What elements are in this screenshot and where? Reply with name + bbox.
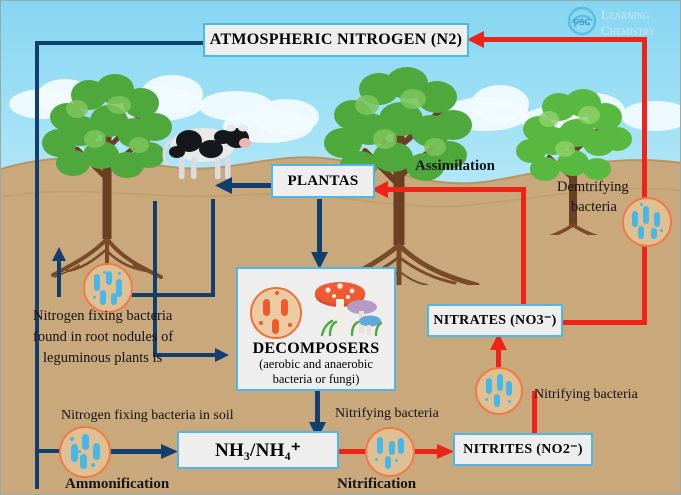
- blue-arrow-to-animals: [215, 177, 233, 194]
- bacteria-circle-icon: [365, 427, 415, 477]
- label-nitrifying-bacteria-right: Nitrifying bacteria: [534, 387, 638, 403]
- red-arrow-into-atmosphere: [467, 31, 485, 48]
- label-nitrifying-bacteria-bottom: Nitrifying bacteria: [335, 406, 439, 422]
- bacteria-circle-icon: [59, 426, 111, 478]
- box-plantas[interactable]: PLANTAS: [271, 164, 375, 198]
- label-ammonification: Ammonification: [65, 476, 169, 493]
- blue-line-nodule-up: [211, 199, 215, 297]
- label-denitrifying-bacteria-line2: bacteria: [571, 199, 617, 216]
- watermark-line2: Chemistry: [601, 23, 655, 39]
- blue-line-nodule-into-root: [57, 259, 61, 297]
- box-decomposers-label: DECOMPOSERS: [253, 341, 380, 358]
- blue-line-top-to-atmosphere: [35, 41, 213, 45]
- box-ammonia-label: NH₃/NH₄⁺: [215, 439, 301, 462]
- bacteria-circle-icon: [622, 197, 672, 247]
- box-nitrates-label: NITRATES (NO3⁻): [433, 312, 556, 329]
- label-assimilation: Assimilation: [415, 158, 495, 175]
- label-nitrification: Nitrification: [337, 476, 416, 493]
- box-nitrites[interactable]: NITRITES (NO2⁻): [453, 433, 593, 466]
- red-line-assimilation-across: [385, 187, 526, 192]
- red-line-nitrates-right: [563, 320, 647, 325]
- bacteria-circle-icon: [83, 263, 133, 313]
- nitrogen-cycle-diagram: ATMOSPHERIC NITROGEN (N2) PLANTAS: [0, 0, 681, 495]
- label-nitrogen-fixing-soil: Nitrogen fixing bacteria in soil: [61, 408, 234, 424]
- box-decomposers-sub1: (aerobic and anaerobic: [259, 357, 373, 372]
- bacteria-cell-icon: [248, 283, 304, 341]
- red-line-denitrify-up: [642, 37, 647, 325]
- box-plantas-label: PLANTAS: [288, 173, 359, 190]
- blue-arrow-into-root-nodule: [51, 247, 67, 263]
- box-atmospheric-nitrogen[interactable]: ATMOSPHERIC NITROGEN (N2): [203, 23, 469, 57]
- svg-text:PSC: PSC: [574, 18, 591, 27]
- watermark-line1: Learning: [601, 7, 649, 23]
- label-root-nodules-line2: found in root nodules of: [33, 329, 173, 346]
- box-ammonia[interactable]: NH₃/NH₄⁺: [177, 431, 339, 469]
- box-decomposers-sub2: bacteria or fungi): [273, 372, 360, 387]
- box-decomposers[interactable]: DECOMPOSERS (aerobic and anaerobic bacte…: [236, 267, 396, 391]
- box-atmospheric-nitrogen-label: ATMOSPHERIC NITROGEN (N2): [210, 31, 463, 49]
- blue-arrow-into-decomposers-left: [215, 347, 231, 363]
- bacteria-circle-icon: [475, 367, 523, 415]
- blue-line-plants-to-decomposers: [317, 199, 322, 257]
- label-root-nodules-line3: leguminous plants is: [43, 350, 162, 367]
- box-nitrites-label: NITRITES (NO2⁻): [463, 441, 583, 458]
- logo-icon: PSC: [567, 6, 597, 36]
- blue-line-left-vertical: [35, 41, 39, 489]
- cow-icon: [161, 119, 261, 185]
- blue-line-into-decomposers-left: [153, 353, 221, 357]
- blue-line-to-ammonia-box: [105, 449, 167, 454]
- label-denitrifying-bacteria-line1: Demtrifying: [557, 179, 629, 196]
- mushroom-icon: [310, 275, 384, 341]
- box-nitrates[interactable]: NITRATES (NO3⁻): [427, 304, 563, 337]
- label-root-nodules-line1: Nitrogen fixing bacteria: [33, 308, 172, 325]
- blue-line-plants-to-animals: [229, 183, 271, 188]
- red-line-assimilation-up: [521, 187, 526, 305]
